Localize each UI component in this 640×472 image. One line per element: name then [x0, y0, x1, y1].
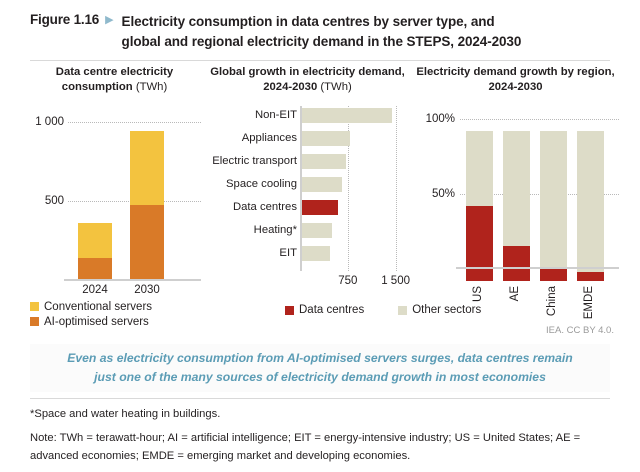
chart1-legend: Conventional servers AI-optimised server… [30, 301, 207, 328]
chart3-plot: 100% 50% US AE China EMDE [408, 106, 623, 281]
bar-space-cooling [302, 177, 343, 192]
bar-us [466, 131, 493, 281]
chart3-baseline [456, 267, 619, 269]
table-row: Data centres [205, 200, 410, 215]
bar-non-eit [302, 108, 393, 123]
table-row: Space cooling [205, 177, 410, 192]
legend-item-data-centres: Data centres [285, 304, 364, 316]
ytick-500: 500 [45, 195, 64, 207]
iea-credit: IEA. CC BY 4.0. [546, 325, 614, 336]
chart2-unit: (TWh) [320, 81, 351, 93]
table-row: Electric transport [205, 154, 410, 169]
chart2-xaxis: 750 1 500 [205, 271, 410, 291]
bar-emde-other-sectors [577, 131, 604, 272]
bar-us-other-sectors [466, 131, 493, 206]
figure-number: Figure 1.16 [30, 12, 99, 27]
gridline-1000 [68, 122, 201, 123]
bar-ae [503, 131, 530, 281]
bar-2024-ai-optimised [78, 258, 112, 281]
key-message-line2: just one of the many sources of electric… [94, 368, 546, 387]
bar-2030-conventional [130, 131, 164, 205]
legend-item-ai-optimised-servers: AI-optimised servers [30, 316, 207, 328]
chart2-title: Global growth in electricity demand, 202… [205, 65, 410, 96]
bar-label-appliances: Appliances [205, 132, 300, 144]
ytick-50pct: 50% [432, 188, 455, 200]
xtick-1500: 1 500 [381, 275, 410, 287]
chart2-title-text: Global growth in electricity demand, 202… [210, 66, 405, 93]
triangle-right-icon: ▶ [105, 13, 113, 26]
xlabel-china: China [546, 286, 558, 316]
chart1-unit: (TWh) [136, 81, 167, 93]
footer-divider [30, 398, 610, 399]
chart-global-growth-demand: Global growth in electricity demand, 202… [205, 65, 410, 291]
bar-2024 [78, 223, 112, 281]
bar-emde-data-centres [577, 272, 604, 281]
bar-appliances [302, 131, 351, 146]
bar-heating [302, 223, 332, 238]
bar-us-data-centres [466, 206, 493, 281]
bar-data-centres [302, 200, 339, 215]
chart-data-centre-consumption: Data centre electricity consumption (TWh… [22, 65, 207, 328]
bar-china-data-centres [540, 267, 567, 281]
xlabel-ae: AE [509, 286, 521, 301]
ytick-100pct: 100% [426, 113, 455, 125]
xlabel-2030: 2030 [124, 284, 170, 296]
bar-label-heating: Heating* [205, 224, 300, 236]
figure-notes: *Space and water heating in buildings. N… [30, 406, 616, 472]
chart-demand-growth-by-region: Electricity demand growth by region, 202… [408, 65, 623, 281]
figure-title-line1: Electricity consumption in data centres … [122, 14, 495, 29]
ytick-1000: 1 000 [35, 116, 64, 128]
bar-label-space-cooling: Space cooling [205, 178, 300, 190]
table-row: Heating* [205, 223, 410, 238]
chart1-baseline [64, 279, 201, 281]
legend-label-conventional: Conventional servers [44, 301, 152, 313]
chart1-plot: 1 000 500 2024 2030 [22, 106, 207, 281]
bar-label-non-eit: Non-EIT [205, 109, 300, 121]
legend-item-conventional-servers: Conventional servers [30, 301, 207, 313]
bar-emde [577, 131, 604, 281]
xtick-750: 750 [338, 275, 357, 287]
bar-ae-data-centres [503, 246, 530, 281]
legend-label-ai-optimised: AI-optimised servers [44, 316, 149, 328]
key-message: Even as electricity consumption from AI-… [30, 344, 610, 392]
header-divider [30, 60, 610, 61]
chart1-title: Data centre electricity consumption (TWh… [22, 65, 207, 96]
bar-2030-ai-optimised [130, 205, 164, 281]
figure-title-line2: global and regional electricity demand i… [122, 34, 522, 49]
legend-swatch-ai-optimised [30, 317, 39, 326]
table-row: Appliances [205, 131, 410, 146]
bar-ae-other-sectors [503, 131, 530, 247]
chart2-plot: Non-EIT Appliances Electric transport Sp… [205, 106, 410, 271]
legend-item-other-sectors: Other sectors [398, 304, 481, 316]
bar-2024-conventional [78, 223, 112, 258]
xlabel-us: US [472, 286, 484, 302]
legend-swatch-other-sectors [398, 306, 407, 315]
chart3-title: Electricity demand growth by region, 202… [408, 65, 623, 96]
xlabel-emde: EMDE [583, 286, 595, 319]
key-message-line1: Even as electricity consumption from AI-… [67, 349, 573, 368]
table-row: EIT [205, 246, 410, 261]
bar-label-eit: EIT [205, 247, 300, 259]
note-text: Note: TWh = terawatt-hour; AI = artifici… [30, 430, 616, 465]
bar-electric-transport [302, 154, 346, 169]
legend-swatch-conventional [30, 302, 39, 311]
bar-label-electric-transport: Electric transport [205, 155, 300, 167]
charts-container: Data centre electricity consumption (TWh… [0, 65, 640, 335]
bar-label-data-centres: Data centres [205, 201, 300, 213]
table-row: Non-EIT [205, 108, 410, 123]
gridline-100pct [460, 119, 619, 120]
footnote-text: *Space and water heating in buildings. [30, 406, 616, 423]
legend-swatch-data-centres [285, 306, 294, 315]
bottom-legend: Data centres Other sectors [285, 304, 481, 316]
legend-label-data-centres: Data centres [299, 304, 364, 316]
bar-2030 [130, 131, 164, 281]
chart3-title-text: Electricity demand growth by region, 202… [416, 66, 614, 93]
legend-label-other-sectors: Other sectors [412, 304, 481, 316]
figure-header: Figure 1.16 ▶ Electricity consumption in… [0, 0, 640, 51]
bar-china [540, 131, 567, 281]
xlabel-2024: 2024 [72, 284, 118, 296]
page-title: Electricity consumption in data centres … [122, 12, 522, 51]
bar-china-other-sectors [540, 131, 567, 268]
bar-eit [302, 246, 331, 261]
